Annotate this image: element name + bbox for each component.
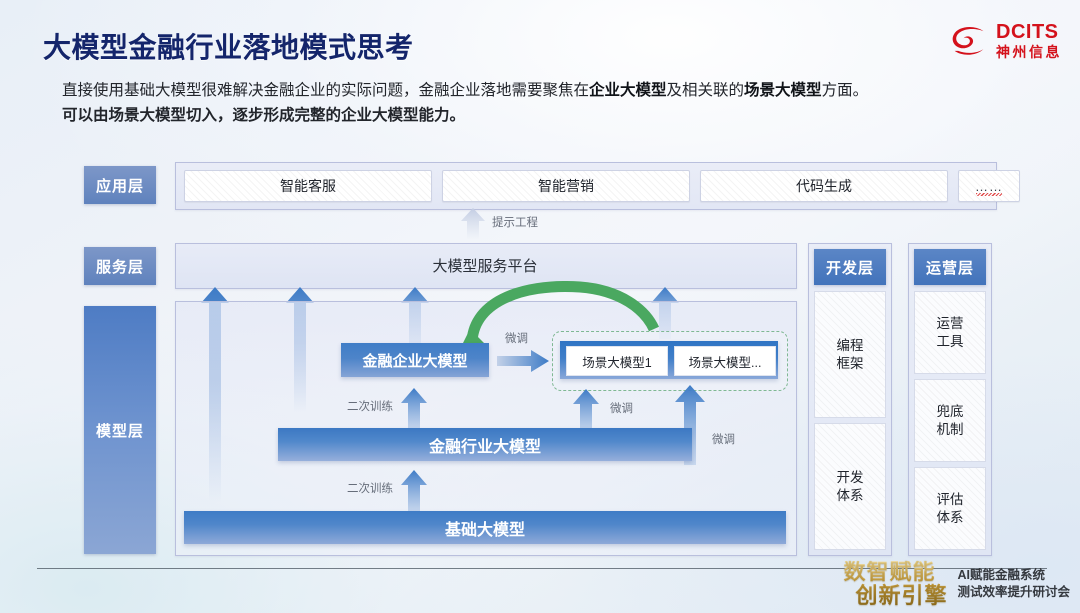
ops-layer-title: 运营层 bbox=[914, 249, 986, 285]
retrain-label-top: 二次训练 bbox=[347, 398, 393, 414]
fine-tune-label-horizontal: 微调 bbox=[505, 330, 528, 346]
event-line-2: 测试效率提升研讨会 bbox=[957, 584, 1070, 601]
logo-text: DCITS 神州信息 bbox=[996, 22, 1062, 59]
scene-model-cards: 场景大模型1 场景大模型... bbox=[566, 346, 776, 376]
slide-canvas: 大模型金融行业落地模式思考 直接使用基础大模型很难解决金融企业的实际问题，金融企… bbox=[0, 0, 1080, 613]
page-title: 大模型金融行业落地模式思考 bbox=[43, 26, 414, 66]
ops-layer-column: 运营层 运营工具 兜底机制 评估体系 bbox=[908, 243, 992, 556]
up-arrow-to-scene-model-icon bbox=[572, 389, 600, 433]
ops-cell-evaluation-system[interactable]: 评估体系 bbox=[914, 467, 986, 550]
fine-tune-label-right: 微调 bbox=[712, 431, 735, 447]
scene-model-card-1[interactable]: 场景大模型1 bbox=[566, 346, 668, 376]
layer-label-application: 应用层 bbox=[84, 166, 156, 204]
app-box-code-generation[interactable]: 代码生成 bbox=[700, 170, 948, 202]
layer-label-service: 服务层 bbox=[84, 247, 156, 285]
scene-model-card-2[interactable]: 场景大模型... bbox=[674, 346, 776, 376]
enterprise-model-box[interactable]: 金融企业大模型 bbox=[341, 343, 489, 377]
event-title-text: AI赋能金融系统 测试效率提升研讨会 bbox=[957, 567, 1070, 601]
dev-layer-cells: 编程框架 开发体系 bbox=[814, 291, 886, 550]
event-line-1: AI赋能金融系统 bbox=[957, 567, 1070, 584]
watermark-line-2: 创新引擎 bbox=[855, 585, 947, 607]
watermark-line-1: 数智赋能 bbox=[843, 561, 947, 583]
page-subtitle: 直接使用基础大模型很难解决金融企业的实际问题，金融企业落地需要聚焦在企业大模型及… bbox=[62, 78, 992, 128]
app-box-marketing[interactable]: 智能营销 bbox=[442, 170, 690, 202]
up-arrow-retrain-industry-icon bbox=[400, 470, 428, 512]
subtitle-emphasis-scene: 场景大模型 bbox=[744, 82, 822, 99]
logo-text-en: DCITS bbox=[996, 22, 1062, 42]
prompt-engineering-arrow-icon bbox=[460, 208, 486, 240]
watermark-gold-text: 数智赋能 创新引擎 bbox=[843, 561, 947, 607]
dev-cell-dev-system[interactable]: 开发体系 bbox=[814, 423, 886, 550]
subtitle-line-2: 可以由场景大模型切入，逐步形成完整的企业大模型能力。 bbox=[62, 103, 992, 128]
up-arrow-retrain-enterprise-icon bbox=[400, 388, 428, 430]
subtitle-part-3: 方面。 bbox=[822, 82, 869, 99]
ops-layer-cells: 运营工具 兜底机制 评估体系 bbox=[914, 291, 986, 550]
dcits-swirl-icon bbox=[949, 23, 989, 59]
dev-layer-title: 开发层 bbox=[814, 249, 886, 285]
subtitle-part-1: 直接使用基础大模型很难解决金融企业的实际问题，金融企业落地需要聚焦在 bbox=[62, 82, 589, 99]
ops-cell-fallback-mechanism[interactable]: 兜底机制 bbox=[914, 379, 986, 462]
fine-tune-label-scene: 微调 bbox=[610, 400, 633, 416]
app-box-more[interactable]: …… bbox=[958, 170, 1020, 202]
base-model-box[interactable]: 基础大模型 bbox=[184, 511, 786, 544]
app-box-customer-service[interactable]: 智能客服 bbox=[184, 170, 432, 202]
fine-tune-right-arrow-icon bbox=[497, 350, 549, 372]
dev-layer-column: 开发层 编程框架 开发体系 bbox=[808, 243, 892, 556]
brand-logo: DCITS 神州信息 bbox=[949, 22, 1062, 59]
application-boxes: 智能客服 智能营销 代码生成 …… bbox=[184, 170, 1020, 202]
dev-cell-programming-framework[interactable]: 编程框架 bbox=[814, 291, 886, 418]
logo-text-cn: 神州信息 bbox=[996, 45, 1062, 59]
subtitle-part-2: 及相关联的 bbox=[667, 82, 745, 99]
prompt-engineering-label: 提示工程 bbox=[492, 214, 538, 230]
layer-label-model: 模型层 bbox=[84, 306, 156, 554]
ops-cell-operations-tools[interactable]: 运营工具 bbox=[914, 291, 986, 374]
event-watermark: 数智赋能 创新引擎 AI赋能金融系统 测试效率提升研讨会 bbox=[843, 561, 1070, 607]
subtitle-emphasis-enterprise: 企业大模型 bbox=[589, 82, 667, 99]
retrain-label-bottom: 二次训练 bbox=[347, 480, 393, 496]
industry-model-box[interactable]: 金融行业大模型 bbox=[278, 428, 692, 461]
